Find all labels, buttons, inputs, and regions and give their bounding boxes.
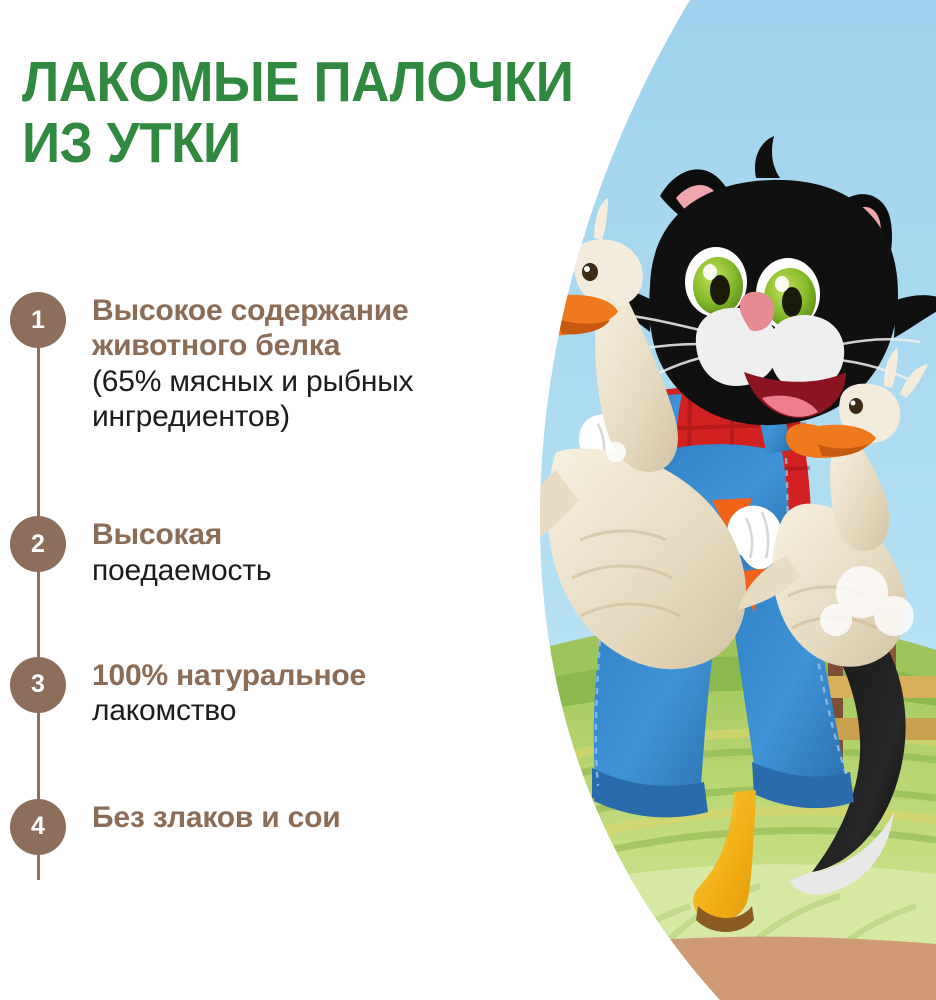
feature-heading-3-line-1: 100% натуральное bbox=[92, 659, 366, 694]
feature-heading-2-line-1: Высокая bbox=[92, 518, 271, 553]
goose-right-eye-glint bbox=[851, 401, 856, 406]
feature-text-1: Высокое содержание животного белка (65% … bbox=[92, 292, 413, 434]
page-title: ЛАКОМЫЕ ПАЛОЧКИ ИЗ УТКИ bbox=[22, 52, 580, 174]
cat-eye-right-pupil bbox=[782, 287, 802, 317]
feature-subtext-1-line-1: (65% мясных и рыбных bbox=[92, 364, 413, 399]
goose-left-eye-glint bbox=[584, 266, 590, 272]
headline-line-2: ИЗ УТКИ bbox=[22, 113, 580, 174]
cat-eye-left-glint bbox=[703, 264, 717, 280]
feature-text-2: Высокая поедаемость bbox=[92, 516, 271, 588]
feature-number-badge-1: 1 bbox=[10, 292, 66, 348]
feature-heading-1-line-2: животного белка bbox=[92, 329, 413, 364]
goose-right-eye bbox=[849, 398, 863, 414]
feature-item-2: 2 Высокая поедаемость bbox=[0, 516, 520, 588]
feature-list: 1 Высокое содержание животного белка (65… bbox=[0, 292, 520, 855]
feature-item-4: 4 Без злаков и сои bbox=[0, 799, 520, 855]
feature-text-3: 100% натуральное лакомство bbox=[92, 657, 366, 729]
feature-heading-1-line-1: Высокое содержание bbox=[92, 294, 413, 329]
cat-eye-right-glint bbox=[775, 276, 789, 292]
feature-item-1: 1 Высокое содержание животного белка (65… bbox=[0, 292, 520, 434]
headline-line-1: ЛАКОМЫЕ ПАЛОЧКИ bbox=[22, 50, 573, 114]
feature-subtext-2-line-1: поедаемость bbox=[92, 553, 271, 588]
feature-number-badge-4: 4 bbox=[10, 799, 66, 855]
feature-item-3: 3 100% натуральное лакомство bbox=[0, 657, 520, 729]
feature-text-4: Без злаков и сои bbox=[92, 799, 341, 836]
feature-heading-4-line-1: Без злаков и сои bbox=[92, 801, 341, 836]
promo-poster: ЛАКОМЫЕ ПАЛОЧКИ ИЗ УТКИ 1 Высокое содерж… bbox=[0, 0, 936, 1000]
feature-number-badge-2: 2 bbox=[10, 516, 66, 572]
cat-eye-left-pupil bbox=[710, 275, 730, 305]
feature-subtext-1-line-2: ингредиентов) bbox=[92, 399, 413, 434]
goose-left-eye bbox=[582, 263, 598, 281]
feature-subtext-3-line-1: лакомство bbox=[92, 693, 366, 728]
feature-number-badge-3: 3 bbox=[10, 657, 66, 713]
